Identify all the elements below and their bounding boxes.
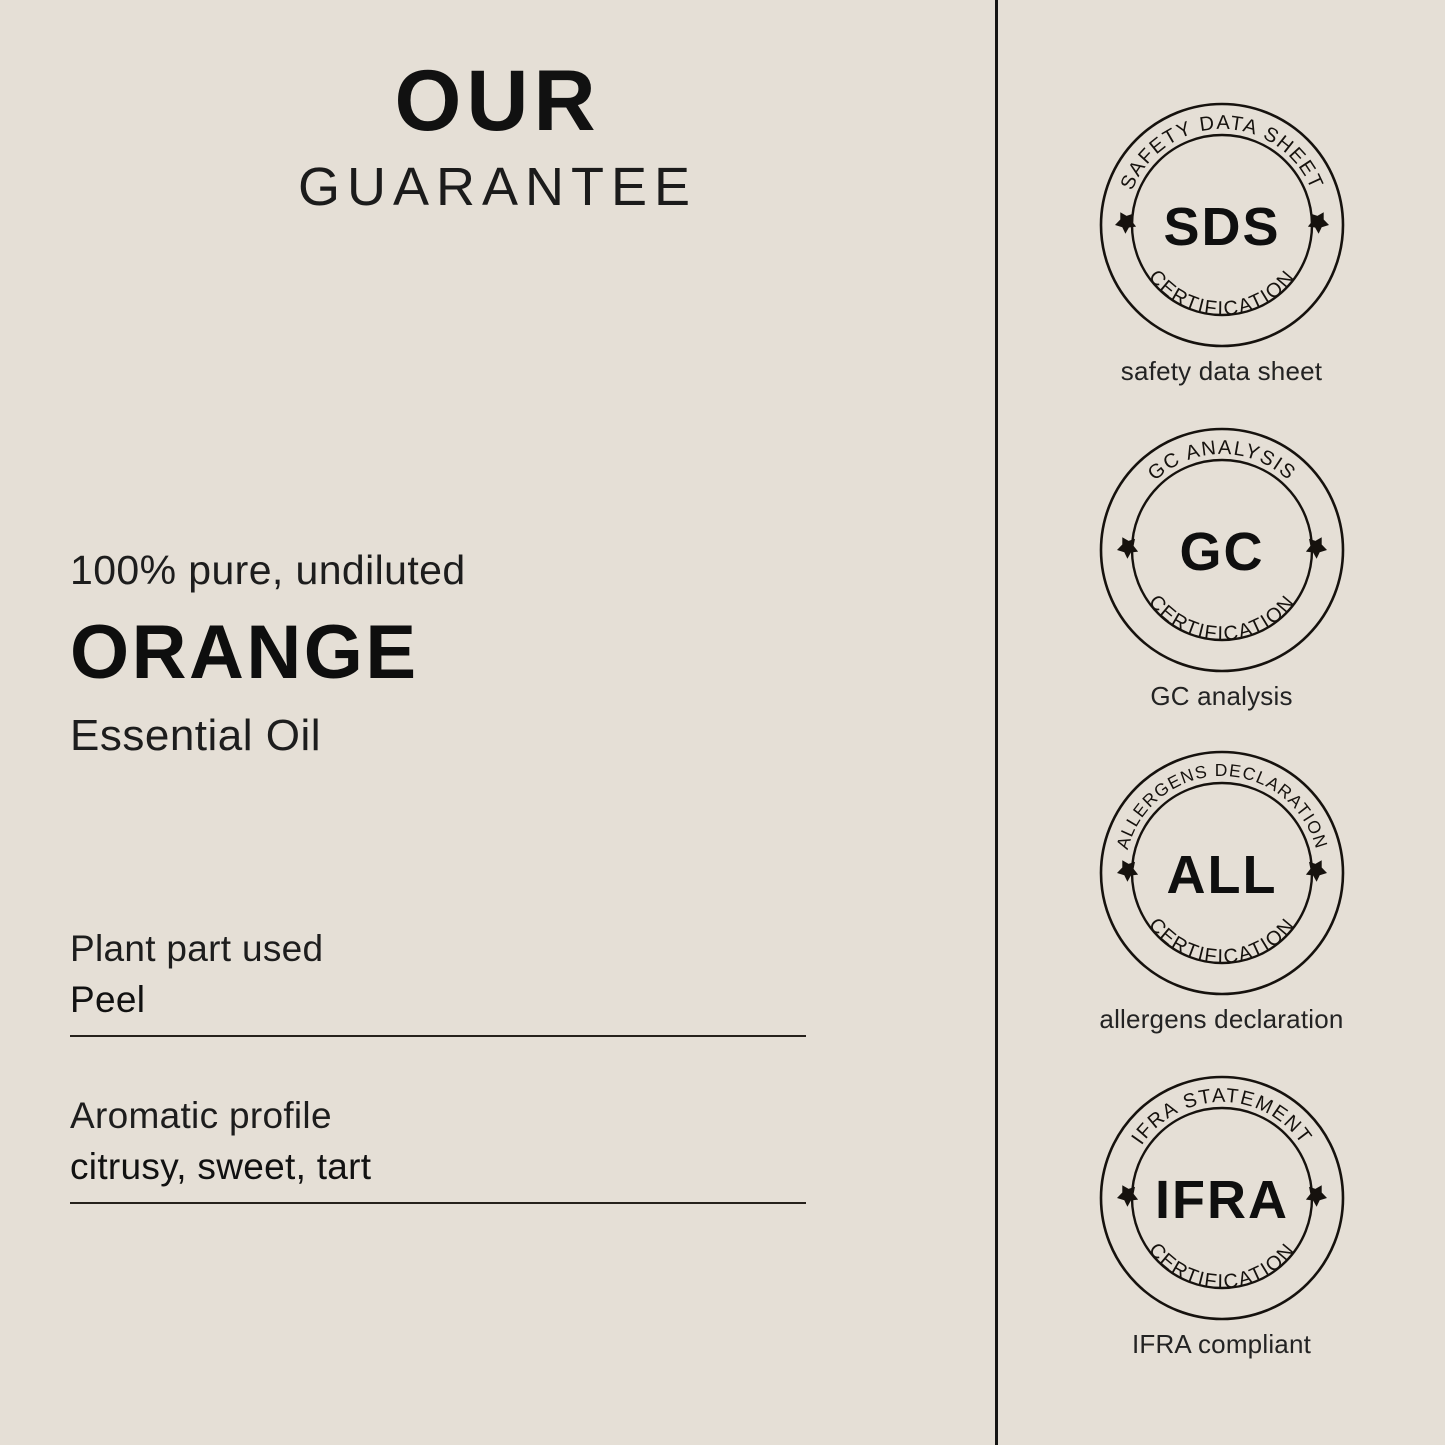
- heading-line-guarantee: GUARANTEE: [0, 160, 995, 214]
- spec-divider: [70, 1202, 806, 1204]
- badge-caption: allergens declaration: [998, 1004, 1445, 1035]
- star-icon-left: [1117, 860, 1138, 882]
- page-title: OUR GUARANTEE: [0, 58, 995, 214]
- product-summary: 100% pure, undiluted ORANGE Essential Oi…: [70, 548, 830, 759]
- seal-icon: GC ANALYSIS CERTIFICATION GC: [1097, 425, 1347, 675]
- seal-abbreviation: SDS: [1163, 197, 1280, 257]
- certification-badges-panel: SAFETY DATA SHEET CERTIFICATION SDS safe…: [998, 0, 1445, 1445]
- seal-bottom-text: CERTIFICATION: [1144, 914, 1300, 968]
- star-icon-right: [1305, 860, 1326, 882]
- heading-line-our: OUR: [0, 58, 995, 144]
- seal-top-textpath: ALLERGENS DECLARATION: [1112, 760, 1332, 851]
- seal-bottom-text: CERTIFICATION: [1144, 591, 1300, 645]
- spec-value: Peel: [70, 979, 806, 1022]
- seal-top-text: ALLERGENS DECLARATION: [1112, 760, 1332, 851]
- spec-label: Aromatic profile: [70, 1095, 806, 1138]
- badge-ifra: IFRA STATEMENT CERTIFICATION IFRA IFRA c…: [998, 1073, 1445, 1360]
- guarantee-page: OUR GUARANTEE 100% pure, undiluted ORANG…: [0, 0, 1445, 1445]
- badge-sds: SAFETY DATA SHEET CERTIFICATION SDS safe…: [998, 100, 1445, 387]
- star-icon-left: [1117, 537, 1138, 559]
- seal-bottom-text: CERTIFICATION: [1144, 266, 1300, 320]
- product-purity-text: 100% pure, undiluted: [70, 548, 830, 593]
- badge-gc: GC ANALYSIS CERTIFICATION GC GC analysis: [998, 425, 1445, 712]
- badge-allergens: ALLERGENS DECLARATION CERTIFICATION ALL …: [998, 748, 1445, 1035]
- spec-list: Plant part used Peel Aromatic profile ci…: [70, 928, 806, 1204]
- seal-top-text: IFRA STATEMENT: [1127, 1085, 1316, 1149]
- seal-bottom-textpath: CERTIFICATION: [1144, 266, 1300, 320]
- product-name: ORANGE: [70, 615, 830, 691]
- seal-bottom-textpath: CERTIFICATION: [1144, 914, 1300, 968]
- spec-row: Aromatic profile citrusy, sweet, tart: [70, 1095, 806, 1204]
- star-icon-left: [1117, 1185, 1138, 1207]
- seal-bottom-textpath: CERTIFICATION: [1144, 1239, 1300, 1293]
- star-icon-right: [1305, 1185, 1326, 1207]
- seal-top-text: SAFETY DATA SHEET: [1116, 112, 1327, 193]
- spec-label: Plant part used: [70, 928, 806, 971]
- seal-abbreviation: ALL: [1166, 845, 1277, 905]
- spec-value: citrusy, sweet, tart: [70, 1146, 806, 1189]
- seal-bottom-text: CERTIFICATION: [1144, 1239, 1300, 1293]
- badge-caption: IFRA compliant: [998, 1329, 1445, 1360]
- badge-caption: safety data sheet: [998, 356, 1445, 387]
- spec-row: Plant part used Peel: [70, 928, 806, 1037]
- product-type: Essential Oil: [70, 713, 830, 759]
- star-icon-right: [1305, 537, 1326, 559]
- seal-icon: IFRA STATEMENT CERTIFICATION IFRA: [1097, 1073, 1347, 1323]
- seal-icon: SAFETY DATA SHEET CERTIFICATION SDS: [1097, 100, 1347, 350]
- spec-divider: [70, 1035, 806, 1037]
- seal-icon: ALLERGENS DECLARATION CERTIFICATION ALL: [1097, 748, 1347, 998]
- badge-caption: GC analysis: [998, 681, 1445, 712]
- seal-top-textpath: IFRA STATEMENT: [1127, 1085, 1316, 1149]
- seal-top-textpath: SAFETY DATA SHEET: [1116, 112, 1327, 193]
- seal-abbreviation: GC: [1179, 522, 1264, 582]
- seal-bottom-textpath: CERTIFICATION: [1144, 591, 1300, 645]
- seal-abbreviation: IFRA: [1155, 1170, 1289, 1230]
- left-panel: OUR GUARANTEE 100% pure, undiluted ORANG…: [0, 0, 995, 1445]
